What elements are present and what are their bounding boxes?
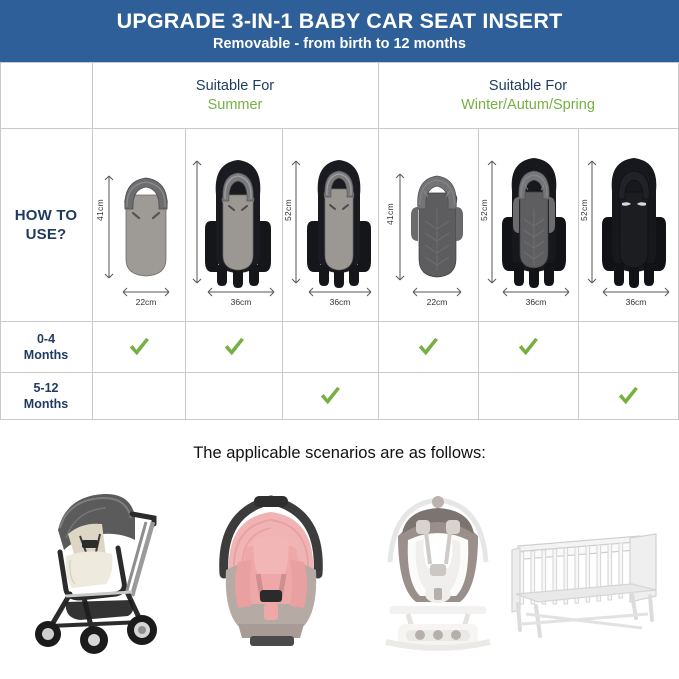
check-cell-r1c5 — [478, 322, 578, 372]
product-image-2 — [185, 129, 282, 322]
header-banner: UPGRADE 3-IN-1 BABY CAR SEAT INSERT Remo… — [0, 0, 679, 62]
stroller-icon — [14, 478, 179, 658]
table-bottom-border — [0, 419, 679, 420]
season-header-summer-line2: Summer — [208, 96, 263, 114]
check-mark-icon — [415, 334, 441, 360]
crib-icon — [490, 478, 670, 658]
product-6-height-label: 52cm — [579, 199, 589, 221]
scenario-stroller — [14, 478, 179, 658]
product-cell-5: 52cm 36cm — [478, 129, 578, 322]
product-5-height-label: 52cm — [479, 199, 489, 221]
check-cell-r1c1 — [92, 322, 185, 372]
check-mark-icon — [615, 383, 641, 409]
product-2-width-label: 36cm — [203, 297, 279, 307]
check-mark-icon — [317, 383, 343, 409]
product-3-height-label: 52cm — [283, 199, 293, 221]
infographic-page: UPGRADE 3-IN-1 BABY CAR SEAT INSERT Remo… — [0, 0, 679, 679]
product-cell-1: 41cm 22cm — [92, 129, 185, 322]
season-header-winter: Suitable For Winter/Autum/Spring — [378, 62, 678, 129]
age-row-2-line2: Months — [24, 396, 68, 412]
product-image-5 — [478, 129, 578, 322]
check-cell-r1c2 — [185, 322, 282, 372]
age-row-2-line1: 5-12 — [24, 380, 68, 396]
scenario-baby-swing — [368, 478, 508, 658]
how-to-use-label: HOW TO USE? — [0, 129, 92, 322]
product-cell-3: 52cm 36cm — [282, 129, 378, 322]
product-image-6 — [578, 129, 678, 322]
check-mark-icon — [221, 334, 247, 360]
product-cell-6: 52cm 36cm — [578, 129, 678, 322]
season-header-summer: Suitable For Summer — [92, 62, 378, 129]
age-row-1-label: 0-4 Months — [0, 322, 92, 372]
check-mark-icon — [515, 334, 541, 360]
product-6-width-label: 36cm — [600, 297, 672, 307]
page-subtitle: Removable - from birth to 12 months — [213, 37, 466, 52]
car-seat-icon — [196, 478, 346, 658]
check-cell-r1c4 — [378, 322, 478, 372]
season-header-summer-line1: Suitable For — [196, 77, 274, 95]
product-1-width-label: 22cm — [116, 297, 176, 307]
product-image-1 — [92, 129, 185, 322]
age-row-1-line1: 0-4 — [24, 331, 68, 347]
product-1-height-label: 41cm — [95, 199, 105, 221]
check-cell-r2c3 — [282, 373, 378, 419]
check-mark-icon — [126, 334, 152, 360]
product-image-4 — [378, 129, 478, 322]
check-cell-r2c6 — [578, 373, 678, 419]
scenarios-row — [0, 478, 679, 658]
age-row-1-line2: Months — [24, 347, 68, 363]
season-header-winter-line1: Suitable For — [489, 77, 567, 95]
product-cell-4: 41cm 22cm — [378, 129, 478, 322]
season-header-winter-line2: Winter/Autum/Spring — [461, 96, 595, 114]
product-3-width-label: 36cm — [306, 297, 374, 307]
comparison-table: Suitable For Summer Suitable For Winter/… — [0, 62, 679, 420]
product-4-width-label: 22cm — [407, 297, 467, 307]
scenario-infant-car-seat — [196, 478, 346, 658]
age-row-2-label: 5-12 Months — [0, 373, 92, 419]
product-image-3 — [282, 129, 378, 322]
page-title: UPGRADE 3-IN-1 BABY CAR SEAT INSERT — [117, 10, 563, 33]
scenario-crib — [490, 478, 670, 658]
scenarios-title: The applicable scenarios are as follows: — [0, 444, 679, 463]
product-cell-2: 36cm — [185, 129, 282, 322]
baby-swing-icon — [368, 478, 508, 658]
product-5-width-label: 36cm — [500, 297, 572, 307]
product-4-height-label: 41cm — [385, 203, 395, 225]
